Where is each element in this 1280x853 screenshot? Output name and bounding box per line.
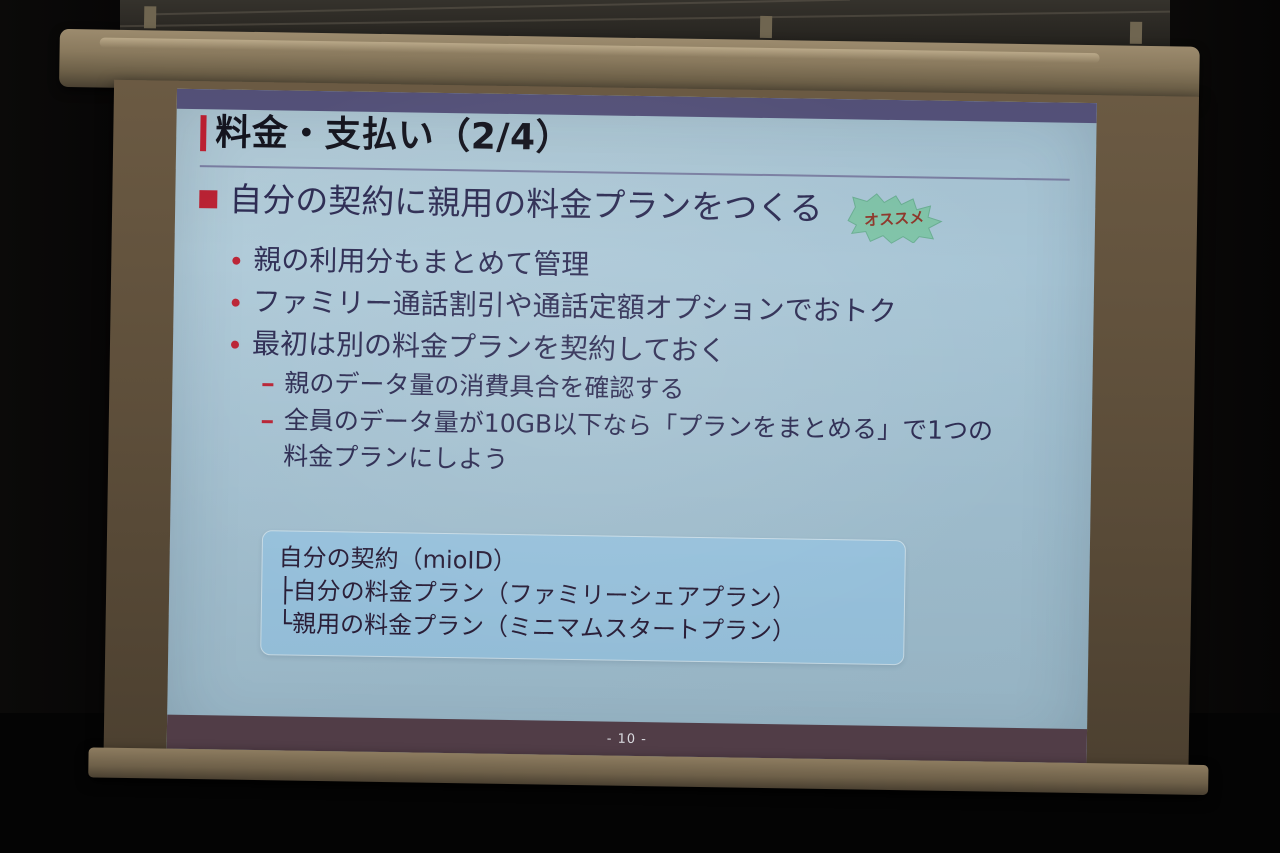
osusume-badge: オススメ	[841, 189, 948, 247]
ceiling-rail-secondary	[150, 0, 850, 15]
slide-body: 自分の契約に親用の料金プランをつくる オススメ 親の利用分もまとめて管理 ファミ…	[195, 177, 1080, 487]
osusume-badge-label: オススメ	[841, 189, 948, 247]
dot-bullet-icon	[231, 340, 239, 348]
projection-screen-assembly: 料金・支払い（2/4） 自分の契約に親用の料金プランをつくる オススメ	[48, 21, 1220, 829]
slide-title-row: 料金・支払い（2/4）	[200, 115, 572, 157]
bullet-level1-text: 自分の契約に親用の料金プランをつくる	[229, 178, 823, 231]
bullet-level2-text: 親の利用分もまとめて管理	[253, 240, 590, 285]
bullet-level3: 全員のデータ量が10GB以下なら「プランをまとめる」で1つの料金プランにしよう	[261, 402, 1076, 487]
page-number: - 10 -	[607, 731, 647, 747]
dot-bullet-icon	[232, 298, 240, 306]
roller-bracket	[1130, 22, 1142, 44]
title-accent-bar	[200, 115, 207, 151]
square-bullet-icon	[199, 190, 217, 208]
dot-bullet-icon	[232, 257, 240, 265]
roller-bracket	[760, 16, 772, 38]
roller-highlight	[100, 38, 1100, 64]
projected-slide: 料金・支払い（2/4） 自分の契約に親用の料金プランをつくる オススメ	[167, 89, 1097, 763]
dash-bullet-icon	[262, 383, 273, 386]
photo-stage: 料金・支払い（2/4） 自分の契約に親用の料金プランをつくる オススメ	[0, 0, 1280, 853]
roller-bracket	[144, 6, 156, 28]
bullet-level1: 自分の契約に親用の料金プランをつくる オススメ	[199, 177, 1080, 247]
callout-box: 自分の契約（mioID） ├自分の料金プラン（ファミリーシェアプラン） └親用の…	[260, 530, 906, 665]
bullet-level3-text: 親のデータ量の消費具合を確認する	[284, 366, 685, 409]
dash-bullet-icon	[262, 420, 273, 423]
bullet-level3-text: 全員のデータ量が10GB以下なら「プランをまとめる」で1つの料金プランにしよう	[283, 402, 1004, 486]
bullet-level2-text: 最初は別の料金プランを契約しておく	[252, 323, 727, 370]
page-title: 料金・支払い（2/4）	[215, 115, 572, 157]
